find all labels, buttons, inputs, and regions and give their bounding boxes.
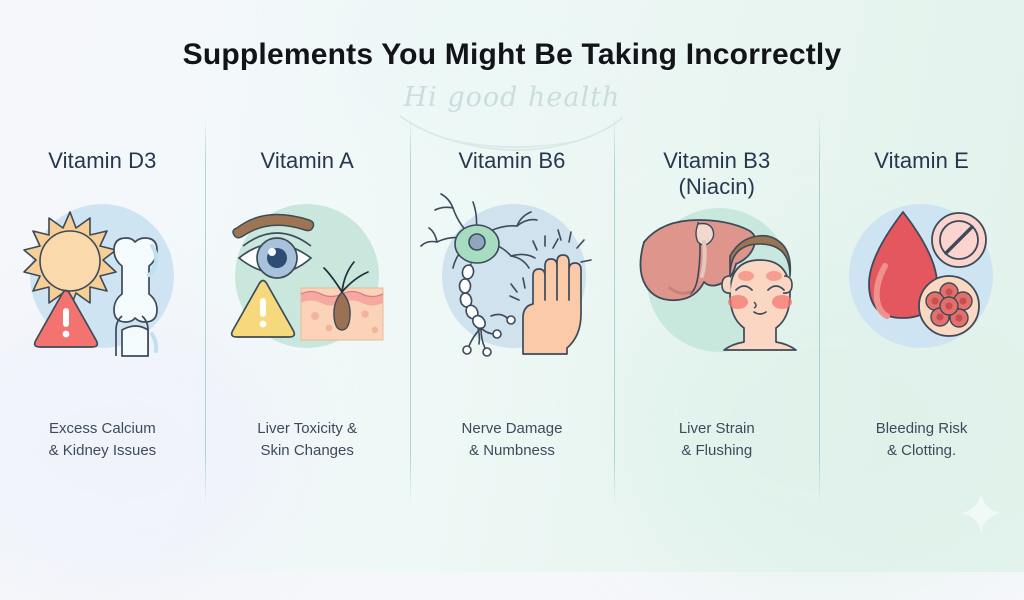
blood-cells-icon [919, 276, 979, 336]
illustration-vitamin-e [829, 188, 1014, 363]
column-divider-4 [819, 118, 820, 502]
column-divider-1 [205, 118, 206, 502]
column-vitamin-b3: Vitamin B3 (Niacin) [614, 118, 819, 508]
column-caption-vitamin-a: Liver Toxicity & Skin Changes [257, 418, 357, 462]
column-vitamin-d3: Vitamin D3 [0, 118, 205, 508]
columns-container: Vitamin D3 [0, 118, 1024, 508]
illustration-vitamin-a [215, 188, 400, 363]
page-title: Supplements You Might Be Taking Incorrec… [0, 38, 1024, 72]
watermark-text: Hi good health [0, 82, 1024, 113]
column-heading-vitamin-d3: Vitamin D3 [48, 148, 156, 174]
illustration-vitamin-b3 [624, 190, 809, 365]
illustration-vitamin-b6 [419, 188, 604, 363]
column-vitamin-a: Vitamin A [205, 118, 410, 508]
column-vitamin-e: Vitamin E [819, 118, 1024, 508]
column-divider-2 [410, 118, 411, 502]
column-caption-vitamin-d3: Excess Calcium & Kidney Issues [49, 418, 157, 462]
infographic-canvas: Supplements You Might Be Taking Incorrec… [0, 0, 1024, 572]
column-caption-vitamin-b6: Nerve Damage & Numbness [462, 418, 563, 462]
column-heading-vitamin-e: Vitamin E [874, 148, 969, 174]
column-caption-vitamin-b3: Liver Strain & Flushing [679, 418, 755, 462]
column-divider-3 [614, 118, 615, 502]
column-caption-vitamin-e: Bleeding Risk & Clotting. [876, 418, 968, 462]
prohibition-icon [932, 213, 986, 267]
column-vitamin-b6: Vitamin B6 [410, 118, 615, 508]
column-heading-vitamin-a: Vitamin A [260, 148, 353, 174]
column-heading-vitamin-b6: Vitamin B6 [459, 148, 566, 174]
illustration-vitamin-d3 [10, 188, 195, 363]
column-heading-line-1: Vitamin B3 [663, 148, 770, 174]
